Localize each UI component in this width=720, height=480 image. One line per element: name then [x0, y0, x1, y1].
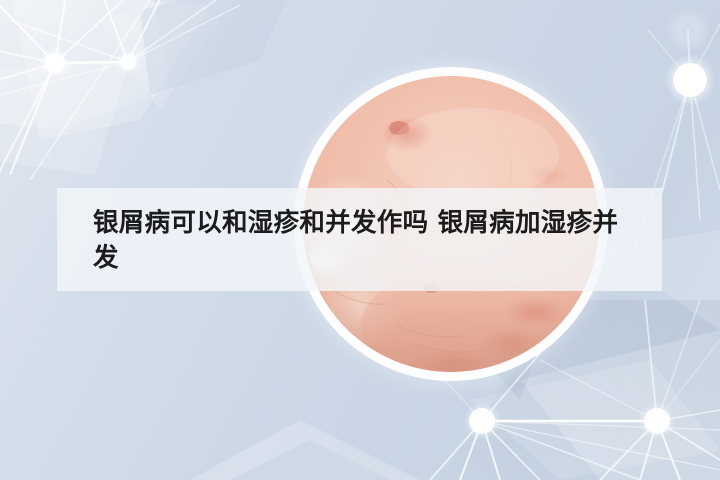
banner-image: 银屑病可以和湿疹和并发作吗 银屑病加湿疹并发 — [0, 0, 720, 480]
network-node — [673, 63, 707, 97]
network-node — [39, 47, 71, 79]
network-node — [638, 402, 676, 440]
network-node — [115, 49, 141, 75]
network-node — [666, 8, 710, 52]
page-title: 银屑病可以和湿疹和并发作吗 银屑病加湿疹并发 — [93, 206, 638, 276]
network-node — [463, 402, 501, 440]
